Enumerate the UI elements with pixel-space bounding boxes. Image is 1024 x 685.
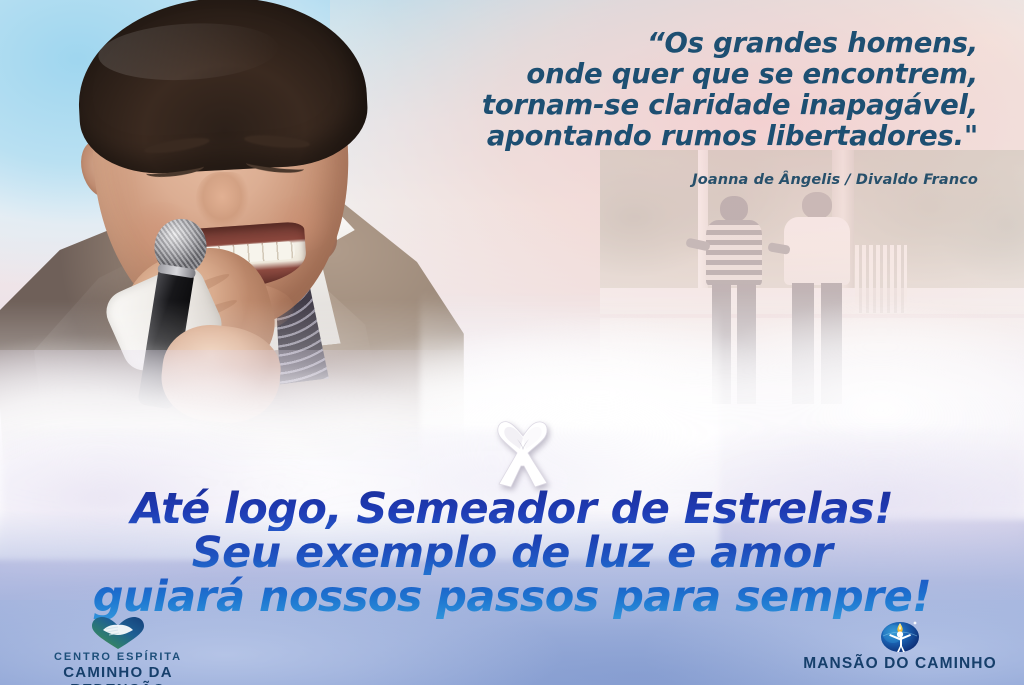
quote-line-3: tornam-se claridade inapagável, [378, 90, 978, 121]
torso [706, 220, 762, 286]
headline-line-3: guiará nossos passos para sempre! [0, 575, 1024, 619]
globe-figure-flame-logo-icon [875, 614, 925, 654]
logo-right-line-2: MANSÃO DO CAMINHO [790, 655, 1010, 673]
torso [784, 217, 850, 285]
logo-left-line-1: CENTRO ESPÍRITA [18, 651, 218, 663]
hands-heart-logo-icon [90, 616, 146, 650]
white-mourning-ribbon-icon [487, 410, 559, 492]
quote-line-4: apontando rumos libertadores." [378, 121, 978, 152]
headline-line-2: Seu exemplo de luz e amor [0, 531, 1024, 575]
quote-line-1: “Os grandes homens, [378, 28, 978, 59]
logo-left-line-2: CAMINHO DA REDENÇÃO [18, 664, 218, 685]
hair [74, 0, 371, 177]
logo-mansao-do-caminho: MANSÃO DO CAMINHO [790, 614, 1010, 673]
logo-centro-espirita: CENTRO ESPÍRITA CAMINHO DA REDENÇÃO [18, 616, 218, 685]
quote-line-2: onde quer que se encontrem, [378, 59, 978, 90]
headline-line-1: Até logo, Semeador de Estrelas! [0, 487, 1024, 531]
head [802, 192, 832, 219]
headline-text: Até logo, Semeador de Estrelas! Seu exem… [0, 487, 1024, 619]
memorial-poster: “Os grandes homens, onde quer que se enc… [0, 0, 1024, 685]
head [720, 196, 748, 222]
quote-text: “Os grandes homens, onde quer que se enc… [378, 28, 978, 152]
quote-attribution: Joanna de Ângelis / Divaldo Franco [378, 172, 978, 188]
